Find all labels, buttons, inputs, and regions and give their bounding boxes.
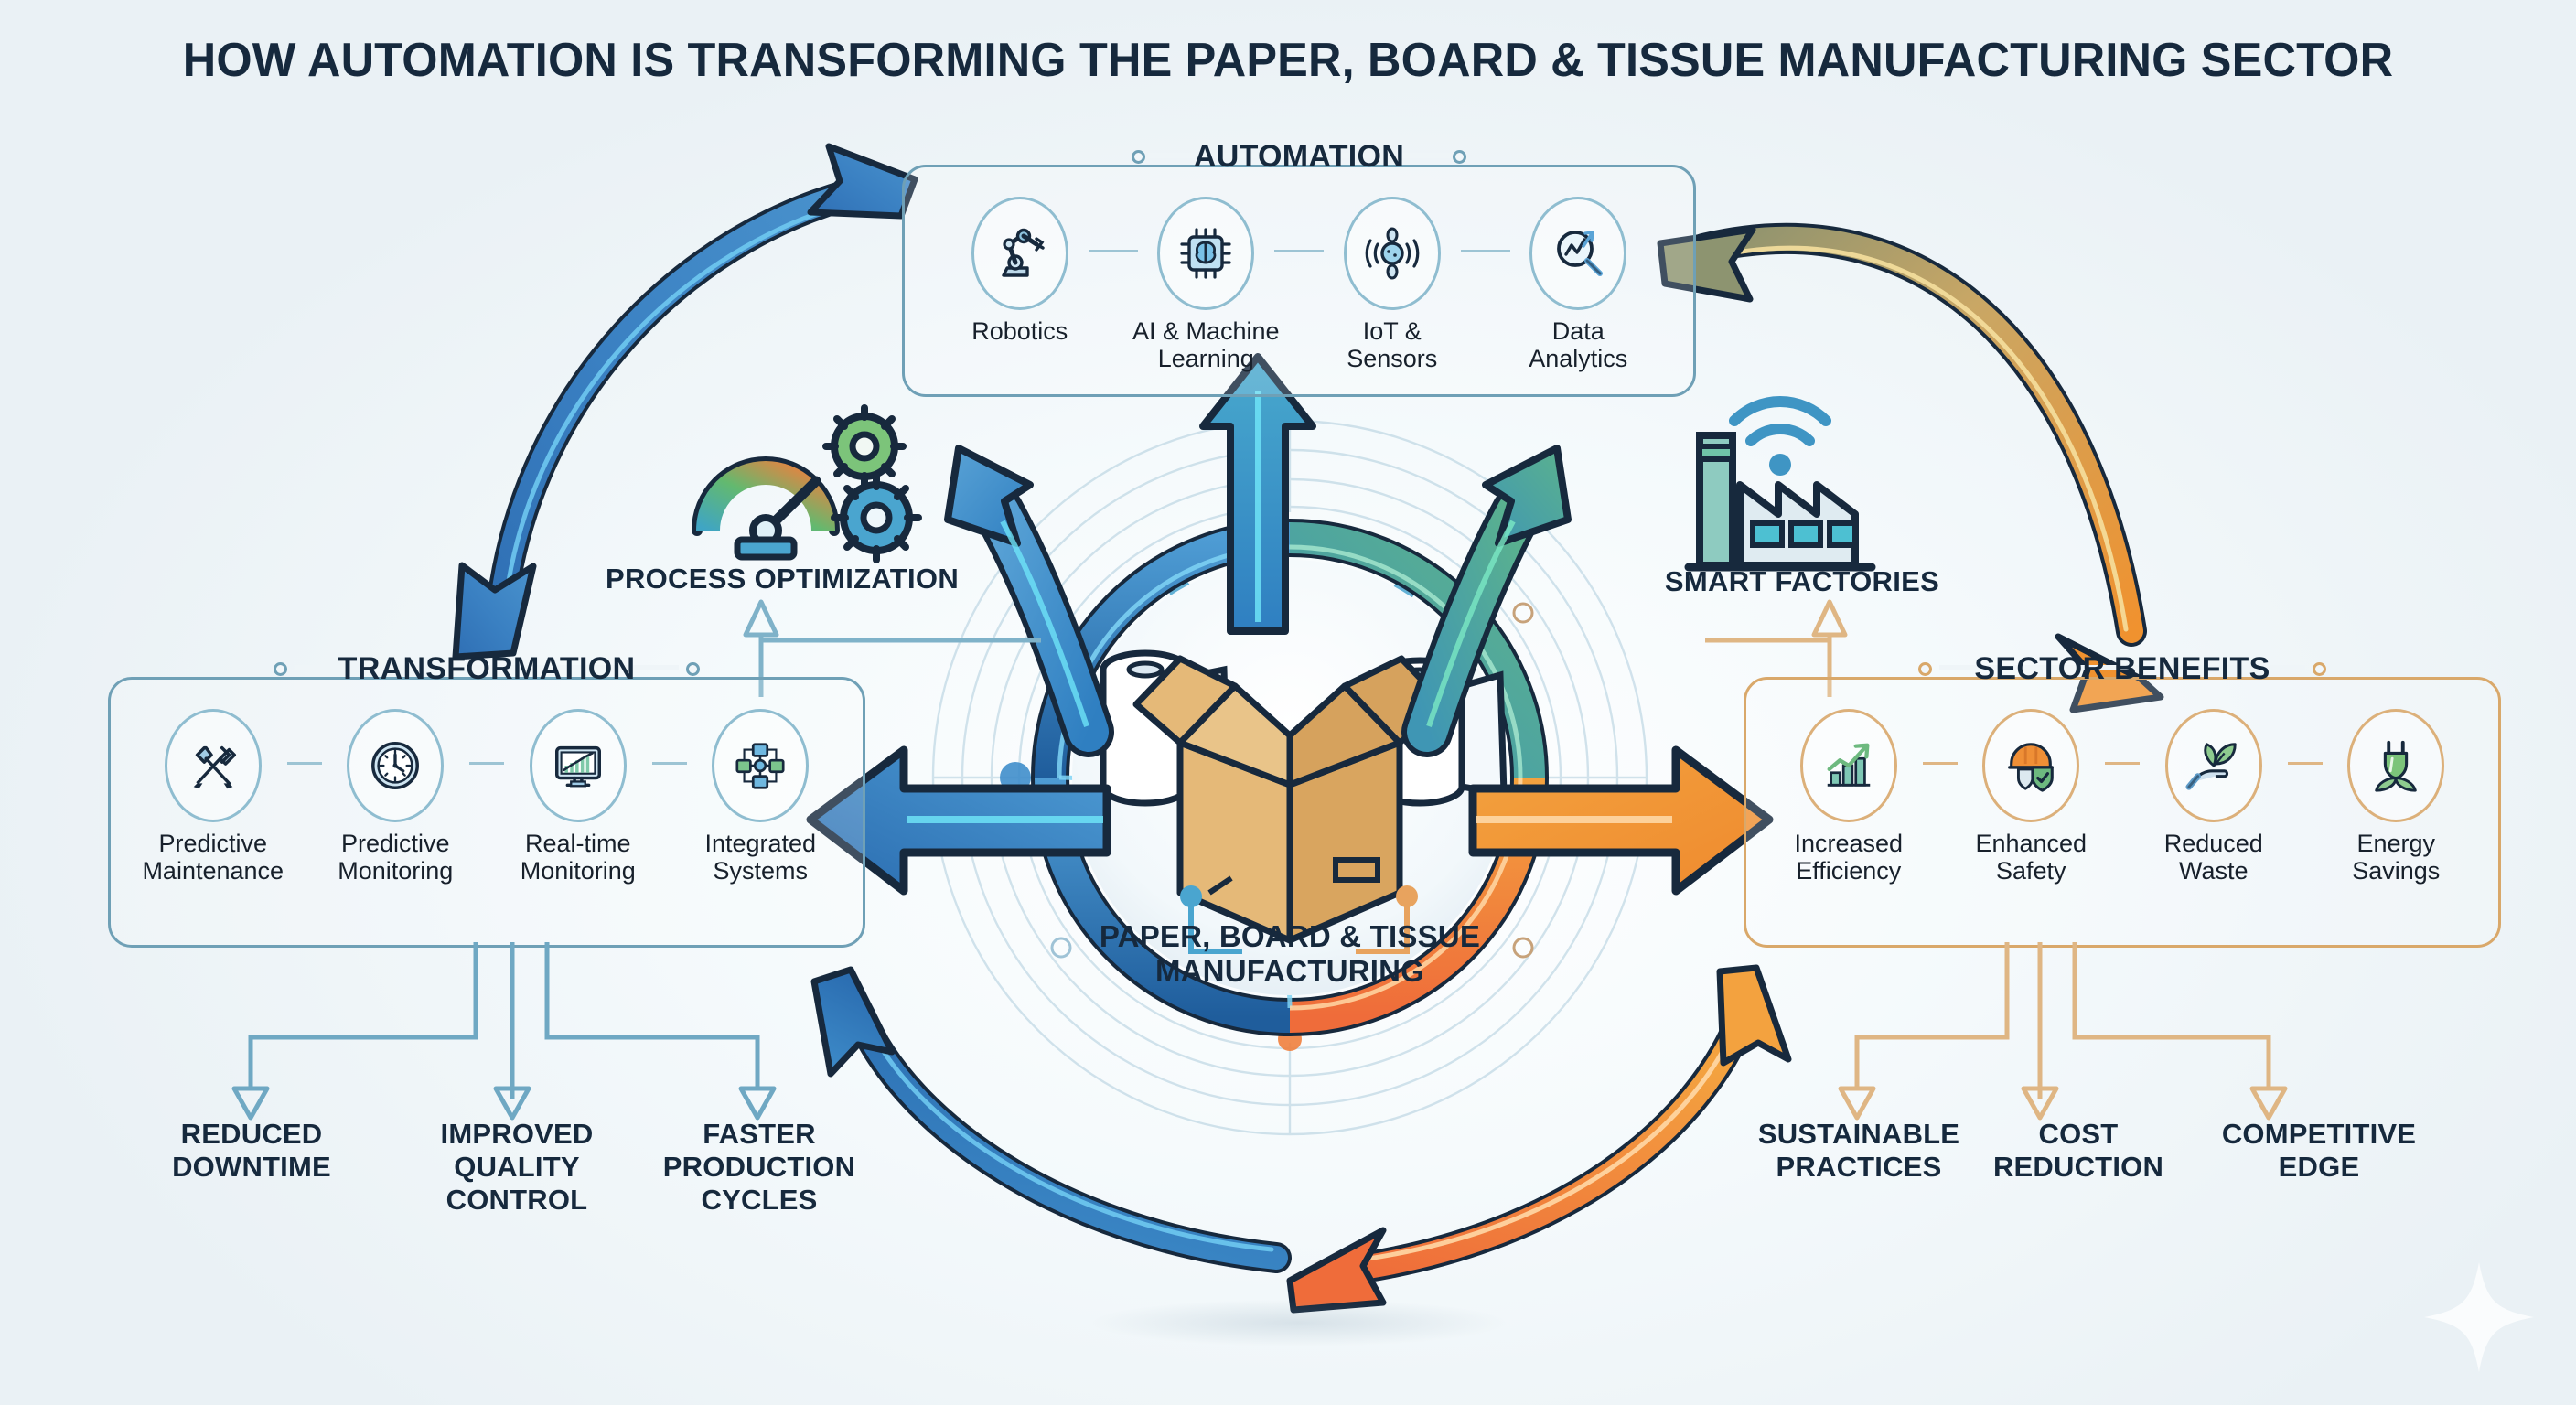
outcome-faster-production-cycles: FASTER PRODUCTION CYCLES [608,1118,910,1217]
item-label-line1: Increased [1767,830,1930,857]
item-label-line1: Energy [2314,830,2477,857]
item-label-line1: Integrated [679,830,842,857]
panel-dot-left [1918,662,1932,676]
panel-item-enhanced-safety[interactable]: Enhanced Safety [1949,709,2112,885]
infographic-canvas: HOW AUTOMATION IS TRANSFORMING THE PAPER… [0,0,2576,1405]
panel-dot-right [686,662,700,676]
item-label-line2: Maintenance [132,857,295,885]
node-label-smart-factories: SMART FACTORIES [1619,565,1985,598]
panel-item-ai-machine-learning[interactable]: AI & Machine Learning [1128,197,1283,372]
hub-label-line1: PAPER, BOARD & TISSUE [1079,919,1500,954]
connectors-left-outcomes [210,942,906,1125]
item-label-line2: Monitoring [497,857,660,885]
item-label-line2: Sensors [1315,345,1470,372]
hub-label: PAPER, BOARD & TISSUE MANUFACTURING [1079,919,1500,990]
panel-item-iot-sensors[interactable]: IoT & Sensors [1315,197,1470,372]
outcome-competitive-edge: COMPETITIVE EDGE [2168,1118,2470,1184]
item-label-line2: Efficiency [1767,857,1930,885]
network-nodes-icon [712,709,809,822]
hub-arrow-up-right [1427,448,1568,732]
iot-sensor-icon [1344,197,1441,310]
gauge-gears-icon [677,402,915,558]
item-label-line1: Robotics [942,317,1098,345]
wifi-icon [1734,402,1826,441]
panel-item-real-time-monitoring[interactable]: Real-time Monitoring [497,709,660,885]
outcome-line2: PRODUCTION [608,1151,910,1184]
panel-item-predictive-maintenance[interactable]: Predictive Maintenance [132,709,295,885]
gear-blue-icon [834,476,918,560]
item-label-line2: Savings [2314,857,2477,885]
item-label-line1: AI & Machine [1128,317,1283,345]
item-label-line1: Enhanced [1949,830,2112,857]
panel-item-data-analytics[interactable]: Data Analytics [1500,197,1656,372]
wifi-dot [1769,454,1791,476]
panel-item-energy-savings[interactable]: Energy Savings [2314,709,2477,885]
item-label-line1: Real-time [497,830,660,857]
eco-plug-icon [2347,709,2444,822]
item-label-line2: Safety [1949,857,2112,885]
hand-leaf-icon [2165,709,2262,822]
panel-dot-right [1453,150,1466,164]
panel-automation: AUTOMATION Robotics [902,165,1696,397]
panel-title-transformation: TRANSFORMATION [326,651,649,687]
outcome-reduced-downtime: REDUCED DOWNTIME [101,1118,402,1184]
panel-title-automation: AUTOMATION [1181,139,1417,175]
panel-transformation: TRANSFORMATION Predictive Maintenance [108,677,865,948]
item-label-line1: Predictive [314,830,477,857]
hub-arrow-right [1464,732,1775,906]
gear-green-icon [826,408,903,485]
item-label-line2: Systems [679,857,842,885]
item-label-line1: IoT & [1315,317,1470,345]
item-label-line2: Waste [2132,857,2295,885]
item-label-line1: Predictive [132,830,295,857]
panel-item-increased-efficiency[interactable]: Increased Efficiency [1767,709,1930,885]
hardhat-shield-icon [1982,709,2079,822]
smart-factory-wifi-icon [1683,384,1912,567]
item-label-line2: Analytics [1500,345,1656,372]
outcome-line1: FASTER [608,1118,910,1151]
connectors-right-outcomes [1738,942,2470,1125]
item-label-line1: Reduced [2132,830,2295,857]
panel-title-sector-benefits: SECTOR BENEFITS [1961,651,2282,687]
hub-ground-shadow [1089,1299,1509,1346]
item-label-line2: Learning [1128,345,1283,372]
panel-dot-left [274,662,287,676]
hub-arrow-up [1203,357,1313,631]
hub-label-line2: MANUFACTURING [1079,954,1500,989]
panel-dot-left [1132,150,1145,164]
panel-dot-right [2313,662,2326,676]
outcome-line3: CYCLES [608,1184,910,1217]
wrench-screwdriver-icon [165,709,262,822]
magnifier-chart-icon [1529,197,1626,310]
panel-item-reduced-waste[interactable]: Reduced Waste [2132,709,2295,885]
monitor-chart-icon [530,709,627,822]
outcome-line2: DOWNTIME [101,1151,402,1184]
panel-item-integrated-systems[interactable]: Integrated Systems [679,709,842,885]
robot-arm-icon [971,197,1068,310]
outcome-line1: COMPETITIVE [2168,1118,2470,1151]
growth-bar-chart-icon [1800,709,1897,822]
item-label-line1: Data [1500,317,1656,345]
panel-sector-benefits: SECTOR BENEFITS [1744,677,2501,948]
item-label-line2: Monitoring [314,857,477,885]
clock-icon [347,709,444,822]
outcome-line2: EDGE [2168,1151,2470,1184]
node-label-process-optimization: PROCESS OPTIMIZATION [585,563,979,595]
ai-chip-brain-icon [1157,197,1254,310]
outcome-line1: REDUCED [101,1118,402,1151]
panel-item-robotics[interactable]: Robotics [942,197,1098,345]
panel-item-predictive-monitoring[interactable]: Predictive Monitoring [314,709,477,885]
